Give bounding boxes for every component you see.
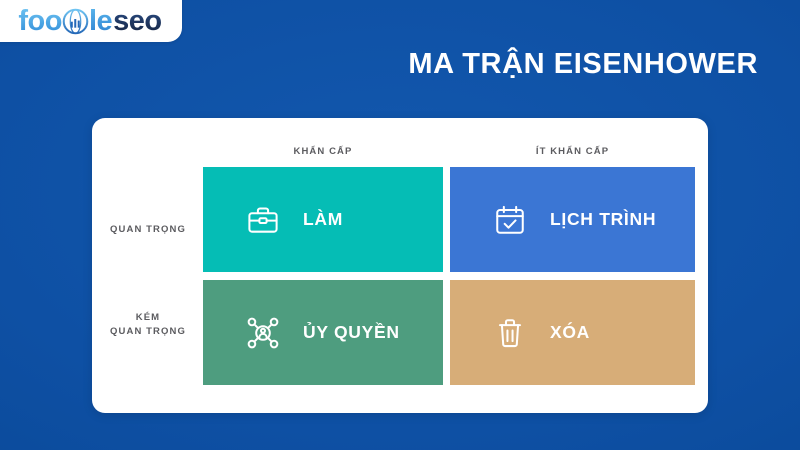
row-header-not-important-line2: QUAN TRỌNG: [94, 325, 202, 339]
quadrant-do-label: LÀM: [303, 209, 343, 230]
quadrant-do[interactable]: LÀM: [203, 167, 443, 272]
brand-logo: foo: [18, 7, 161, 36]
calendar-check-icon: [492, 202, 528, 238]
eisenhower-matrix: KHẨN CẤP ÍT KHẨN CẤP QUAN TRỌNG KÉM QUAN…: [92, 118, 708, 413]
row-header-not-important-line1: KÉM: [94, 311, 202, 325]
column-header-urgent: KHẨN CẤP: [203, 146, 443, 157]
brand-logo-part1: foo: [18, 7, 62, 36]
quadrant-delete[interactable]: XÓA: [450, 280, 695, 385]
quadrant-delete-label: XÓA: [550, 322, 590, 343]
row-header-important: QUAN TRỌNG: [94, 223, 202, 237]
matrix-card: KHẨN CẤP ÍT KHẨN CẤP QUAN TRỌNG KÉM QUAN…: [92, 118, 708, 413]
column-header-not-urgent: ÍT KHẨN CẤP: [450, 146, 695, 157]
briefcase-icon: [245, 202, 281, 238]
page-title: MA TRẬN EISENHOWER: [408, 48, 758, 81]
network-person-icon: [245, 315, 281, 351]
quadrant-delegate[interactable]: ỦY QUYỀN: [203, 280, 443, 385]
quadrant-delegate-label: ỦY QUYỀN: [303, 322, 400, 343]
row-header-not-important: KÉM QUAN TRỌNG: [94, 311, 202, 339]
quadrant-schedule[interactable]: LỊCH TRÌNH: [450, 167, 695, 272]
slide-root: foo: [0, 0, 800, 450]
row-header-important-line1: QUAN TRỌNG: [94, 223, 202, 237]
globe-chart-icon: [62, 8, 89, 35]
brand-logo-part3: seo: [113, 7, 161, 36]
brand-logo-part2: le: [89, 7, 112, 36]
quadrant-schedule-label: LỊCH TRÌNH: [550, 209, 656, 230]
brand-logo-badge[interactable]: foo: [0, 0, 182, 42]
trash-icon: [492, 315, 528, 351]
brand-logo-text: foo: [18, 7, 161, 36]
